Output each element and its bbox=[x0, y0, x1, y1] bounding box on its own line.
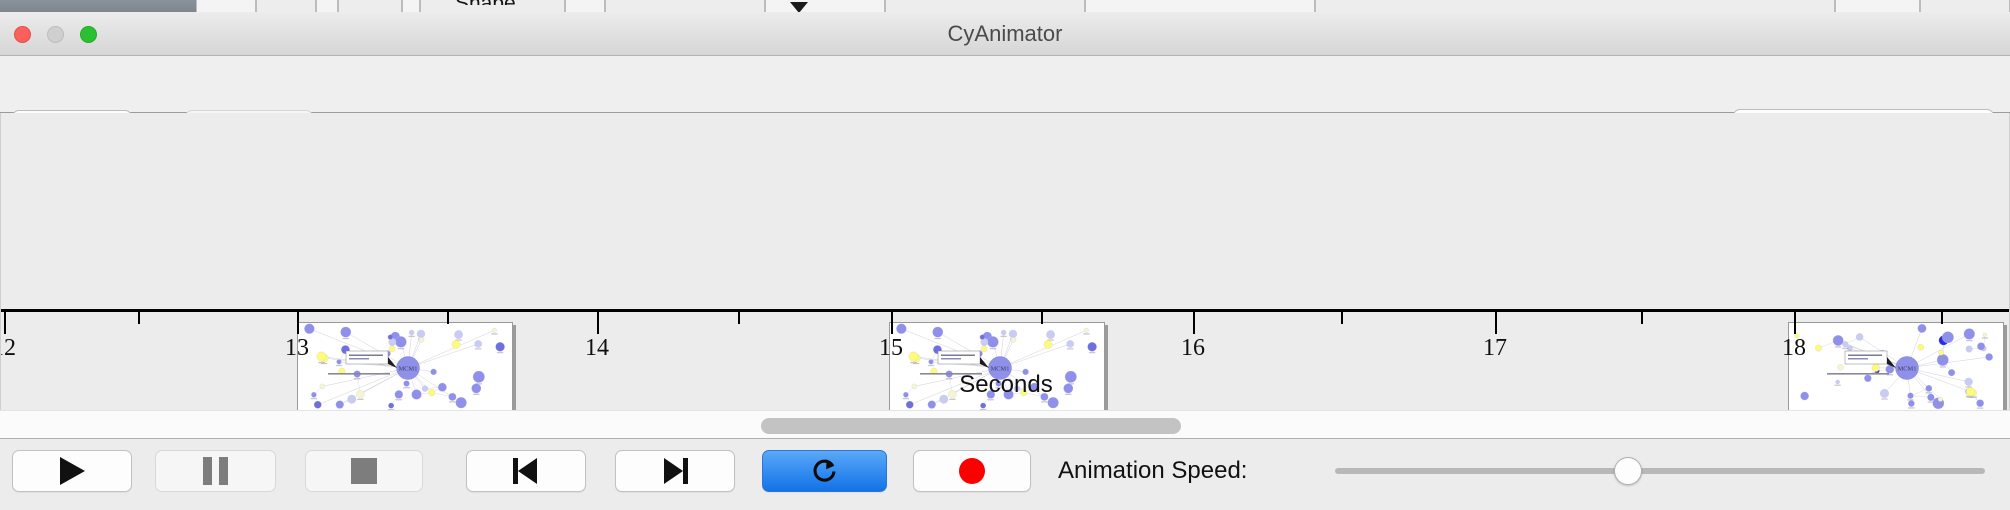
timeline-tick bbox=[1941, 312, 1943, 324]
cyanimator-window: Shape CyAnimator Clear All Frames MCM1MC… bbox=[0, 0, 2010, 510]
background-window-label: Shape bbox=[455, 0, 516, 5]
timeline-tick-label: 15 bbox=[879, 335, 903, 362]
timeline-tick bbox=[597, 312, 599, 334]
background-window-strip: Shape bbox=[0, 0, 2010, 12]
background-tab bbox=[605, 0, 765, 12]
play-button[interactable] bbox=[12, 450, 132, 492]
play-icon bbox=[60, 457, 85, 485]
timeline-tick bbox=[447, 312, 449, 324]
slider-track bbox=[1335, 468, 1985, 474]
animation-speed-label: Animation Speed: bbox=[1058, 450, 1247, 492]
timeline-tick-label: 13 bbox=[285, 335, 309, 362]
slider-thumb[interactable] bbox=[1614, 457, 1642, 485]
record-icon bbox=[959, 458, 985, 484]
next-frame-button[interactable] bbox=[615, 450, 735, 492]
background-tab bbox=[565, 0, 605, 12]
stop-button[interactable] bbox=[305, 450, 423, 492]
background-caret-icon bbox=[790, 2, 808, 12]
timeline-tick bbox=[891, 312, 893, 334]
scrollbar-thumb[interactable] bbox=[761, 418, 1181, 434]
previous-frame-button[interactable] bbox=[466, 450, 586, 492]
timeline-tick-label: 12 bbox=[0, 335, 16, 362]
pause-icon bbox=[203, 457, 228, 485]
timeline-tick bbox=[1041, 312, 1043, 324]
background-tab bbox=[765, 0, 885, 12]
timeline-panel[interactable]: MCM1MCM1MCM1 12131415161718 Seconds bbox=[0, 113, 2010, 410]
timeline-tick bbox=[1495, 312, 1497, 334]
animation-speed-slider[interactable] bbox=[1335, 466, 1985, 476]
timeline-tick bbox=[4, 312, 6, 334]
background-tab bbox=[1085, 0, 1315, 12]
timeline-tick bbox=[738, 312, 740, 324]
playback-toolbar: Animation Speed: bbox=[0, 440, 2010, 510]
timeline-tick-label: 14 bbox=[585, 335, 609, 362]
skip-previous-icon bbox=[513, 458, 539, 484]
timeline-tick-label: 17 bbox=[1483, 335, 1507, 362]
skip-next-icon bbox=[662, 458, 688, 484]
record-button[interactable] bbox=[913, 450, 1031, 492]
timeline-tick-label: 18 bbox=[1782, 335, 1806, 362]
timeline-horizontal-scrollbar[interactable] bbox=[0, 410, 2010, 439]
stop-icon bbox=[351, 458, 377, 484]
toolbar: Clear All Frames bbox=[0, 56, 2010, 113]
background-tab bbox=[338, 0, 402, 12]
timeline-axis-title: Seconds bbox=[1, 371, 2010, 399]
pause-button[interactable] bbox=[155, 450, 276, 492]
timeline-tick bbox=[1794, 312, 1796, 334]
timeline-tick bbox=[1341, 312, 1343, 324]
background-tab bbox=[1315, 0, 1835, 12]
title-bar: CyAnimator bbox=[0, 12, 2010, 56]
background-tab bbox=[885, 0, 1085, 12]
background-window-dark-panel bbox=[0, 0, 196, 12]
timeline-tick bbox=[297, 312, 299, 334]
loop-button[interactable] bbox=[762, 450, 887, 492]
timeline-tick bbox=[1641, 312, 1643, 324]
background-tab bbox=[196, 0, 256, 12]
background-tab bbox=[1920, 0, 2010, 12]
timeline-tick bbox=[1193, 312, 1195, 334]
background-tab bbox=[316, 0, 338, 12]
background-tab bbox=[402, 0, 420, 12]
timeline-tick bbox=[138, 312, 140, 324]
loop-icon bbox=[810, 456, 840, 486]
timeline-tick-label: 16 bbox=[1181, 335, 1205, 362]
timeline-axis bbox=[1, 309, 2010, 312]
background-tab bbox=[256, 0, 316, 12]
window-title: CyAnimator bbox=[0, 12, 2010, 56]
background-tab bbox=[1835, 0, 1920, 12]
